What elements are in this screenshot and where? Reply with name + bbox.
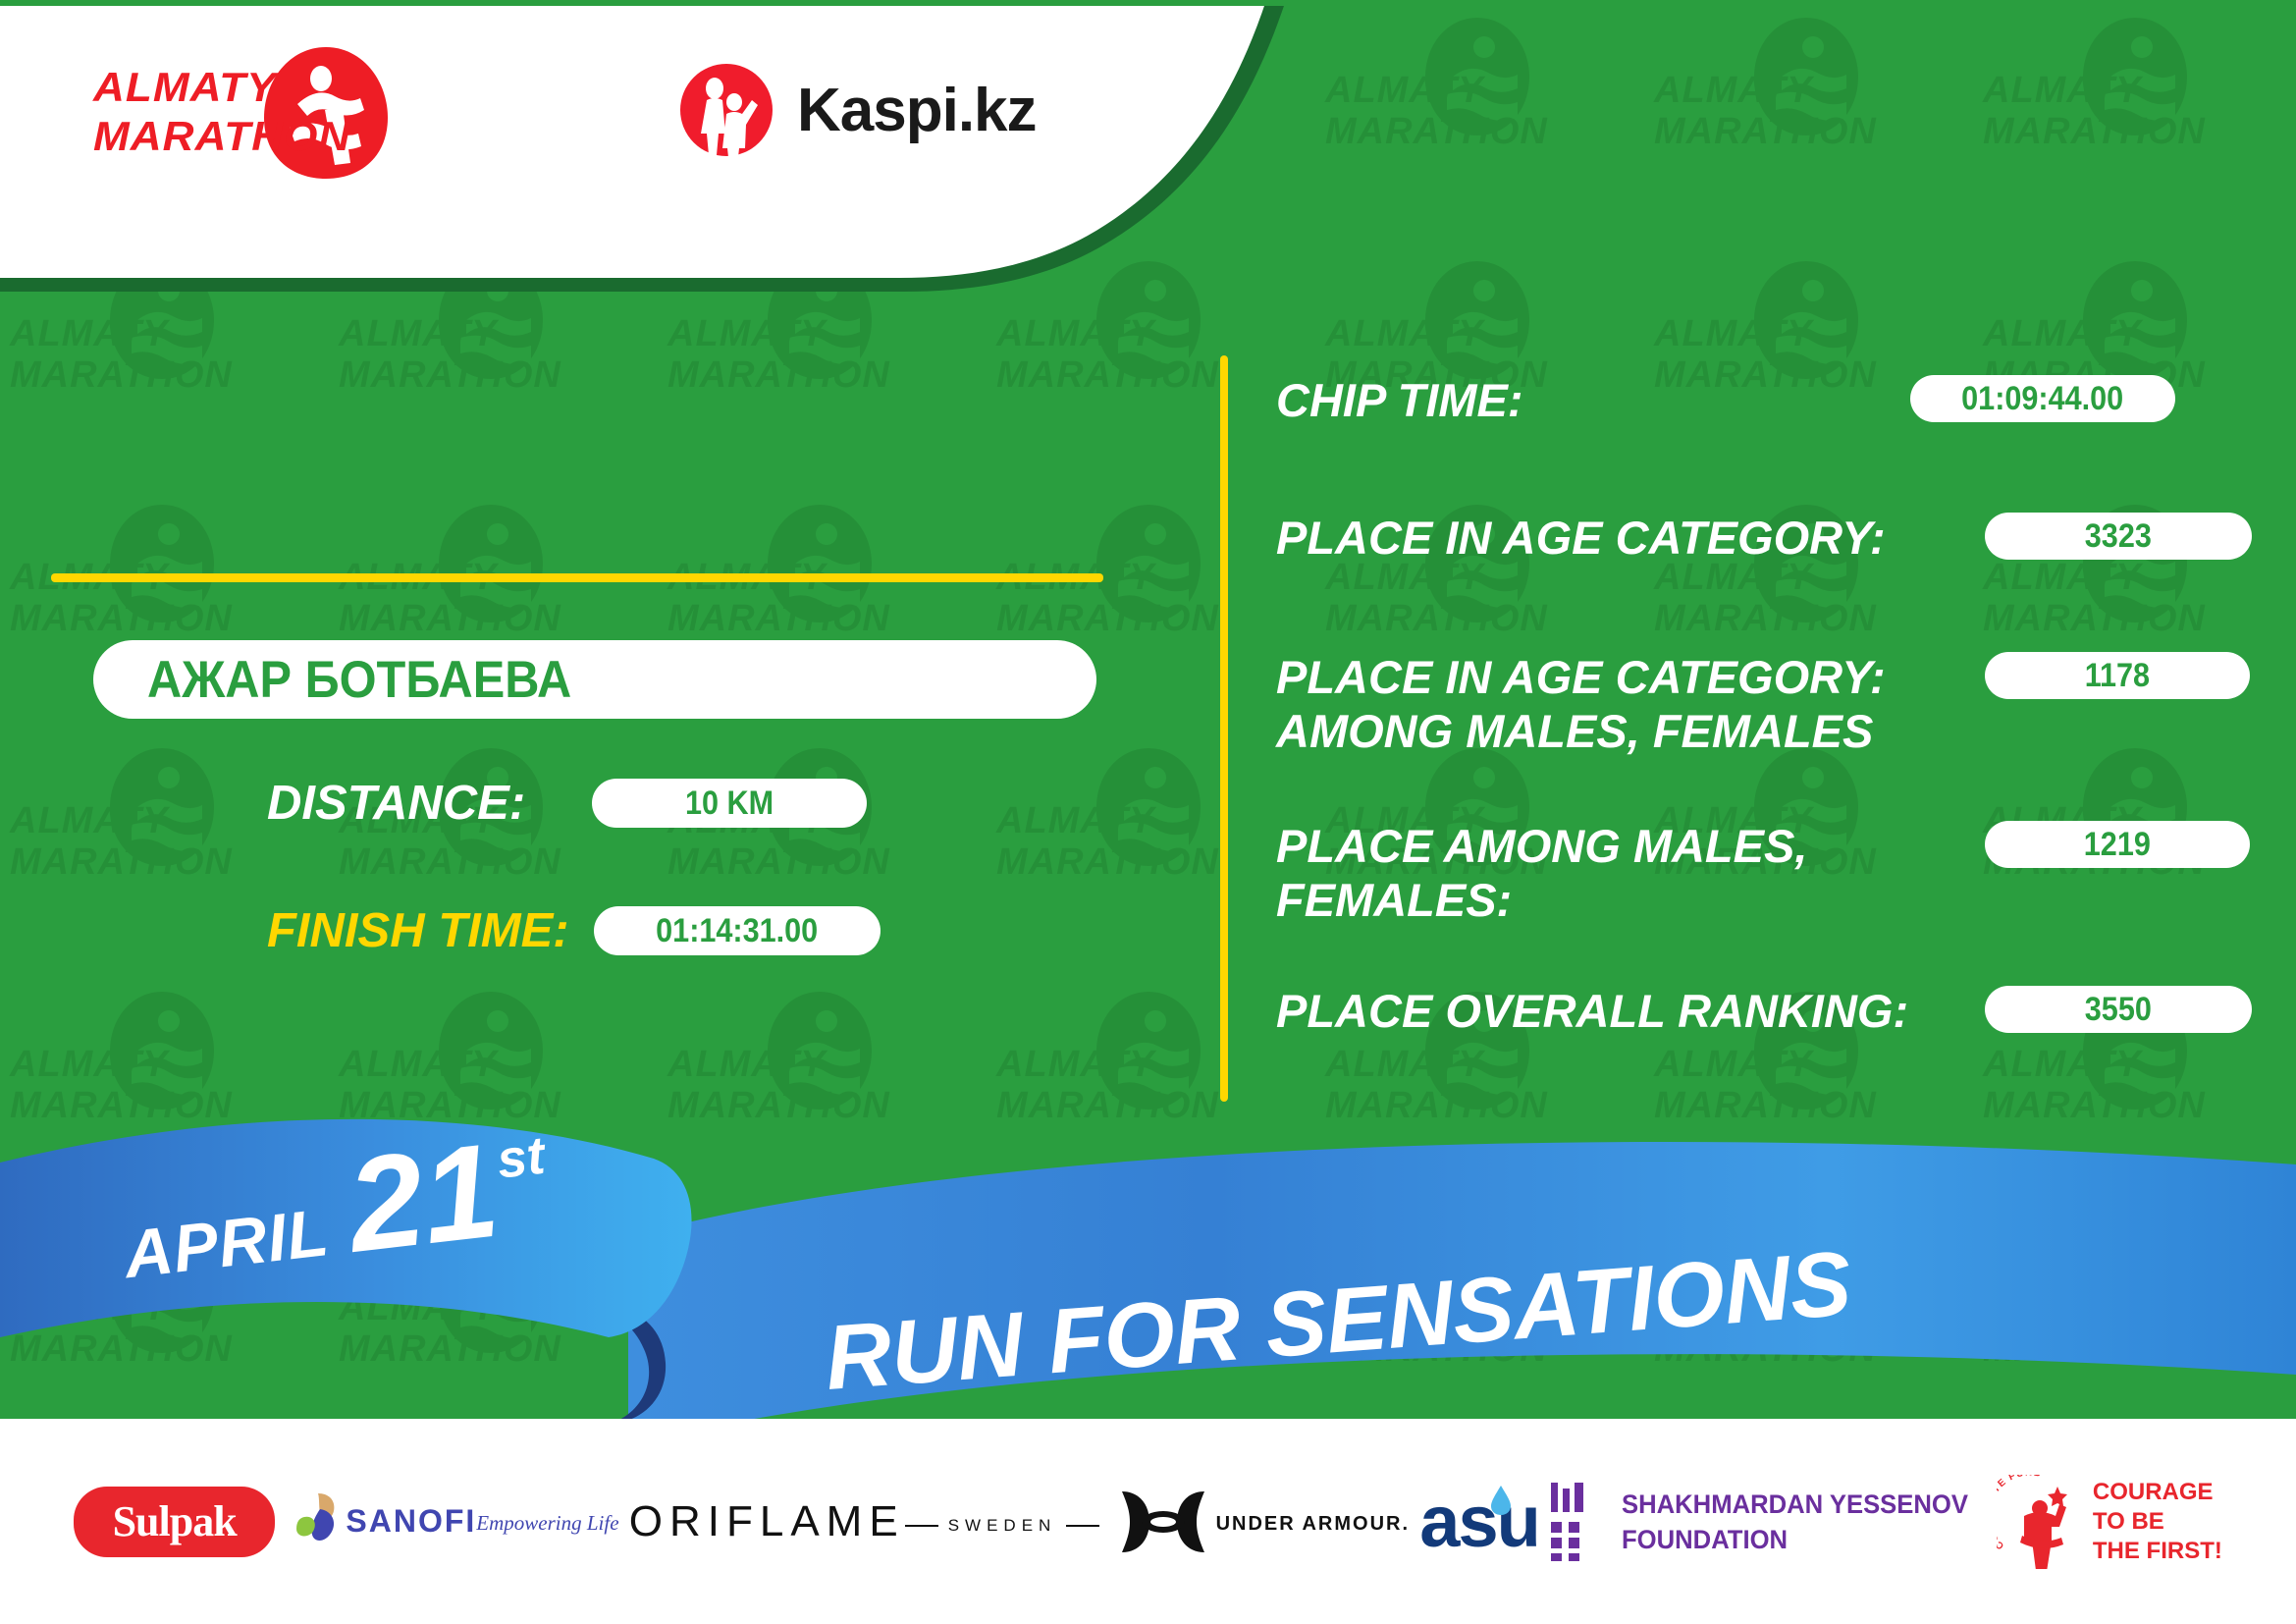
finish-time-value: 01:14:31.00 [656, 912, 818, 950]
sponsor-oriflame: ORIFLAME SWEDEN [629, 1497, 1100, 1546]
stat-row-place-overall-ranking: PLACE OVERALL RANKING: 3550 [1276, 984, 2258, 1038]
place-among-label-line2: FEMALES: [1276, 873, 2258, 927]
stat-row-place-among-males-females: PLACE AMONG MALES, FEMALES: 1219 [1276, 819, 2258, 927]
yessenov-wordmark: SHAKHMARDAN YESSENOV FOUNDATION [1622, 1487, 1968, 1557]
stat-row-chip-time: CHIP TIME: 01:09:44.00 [1276, 373, 2258, 427]
participant-name-field: АЖАР БОТБАЕВА [93, 640, 1096, 719]
stat-row-distance: DISTANCE: 10 KM [267, 776, 867, 831]
oriflame-sub: SWEDEN [905, 1516, 1100, 1536]
chip-time-value-pill: 01:09:44.00 [1910, 375, 2175, 422]
yessenov-line1: SHAKHMARDAN YESSENOV [1622, 1487, 1968, 1522]
asu-drop-icon [1491, 1486, 1511, 1515]
distance-value-pill: 10 KM [592, 779, 867, 828]
stat-row-finish-time: FINISH TIME: 01:14:31.00 [267, 903, 881, 958]
yessenov-icon [1549, 1483, 1604, 1561]
kaspi-wordmark: Kaspi.kz [797, 76, 1037, 145]
under-armour-icon [1110, 1489, 1216, 1554]
sanofi-icon [285, 1489, 346, 1550]
event-day: 21 [344, 1135, 504, 1259]
almaty-line: ALMATY [93, 64, 277, 110]
event-day-suffix: st [494, 1125, 548, 1191]
courage-line3: THE FIRST! [2093, 1537, 2222, 1566]
finish-time-label: FINISH TIME: [267, 903, 569, 958]
title-underline [51, 573, 1103, 582]
almaty-marathon-logo: ALMATY MARATHON [93, 41, 398, 179]
distance-label: DISTANCE: [267, 776, 525, 831]
sponsor-asu: asu [1419, 1480, 1539, 1563]
kaspi-logo: Kaspi.kz [677, 61, 1037, 159]
distance-value: 10 KM [685, 785, 774, 823]
place-age-among-value-pill: 1178 [1985, 652, 2250, 699]
courage-fund-wordmark: COURAGE TO BE THE FIRST! [2093, 1478, 2222, 1566]
yessenov-line2: FOUNDATION [1622, 1522, 1968, 1557]
finish-time-value-pill: 01:14:31.00 [594, 906, 881, 955]
place-age-category-value: 3323 [2085, 517, 2152, 556]
column-divider [1220, 355, 1228, 1102]
oriflame-tagline: SWEDEN [948, 1516, 1057, 1536]
marathon-line: MARATHON [93, 113, 350, 159]
place-among-value-pill: 1219 [1985, 821, 2250, 868]
asu-wordmark: asu [1419, 1480, 1539, 1563]
sponsor-sulpak: Sulpak [74, 1487, 275, 1557]
chip-time-value: 01:09:44.00 [1961, 380, 2123, 418]
courage-line2: TO BE [2093, 1507, 2222, 1537]
sulpak-logo: Sulpak [74, 1487, 275, 1557]
sanofi-wordmark: SANOFI [346, 1503, 476, 1540]
sponsor-under-armour: UNDER ARMOUR. [1110, 1489, 1410, 1554]
place-age-among-label-line2: AMONG MALES, FEMALES [1276, 704, 2258, 758]
place-overall-value-pill: 3550 [1985, 986, 2252, 1033]
sponsor-yessenov-foundation: SHAKHMARDAN YESSENOV FOUNDATION [1549, 1483, 1987, 1561]
oriflame-rule-left [905, 1525, 938, 1527]
courage-line1: COURAGE [2093, 1478, 2222, 1507]
stat-row-place-age-category-among: PLACE IN AGE CATEGORY: AMONG MALES, FEMA… [1276, 650, 2258, 758]
oriflame-rule-right [1066, 1525, 1099, 1527]
place-among-value: 1219 [2084, 826, 2151, 864]
place-overall-value: 3550 [2085, 991, 2152, 1029]
oriflame-wordmark: ORIFLAME [629, 1497, 905, 1546]
stat-row-place-age-category: PLACE IN AGE CATEGORY: 3323 [1276, 511, 2258, 565]
sanofi-tagline: Empowering Life [476, 1511, 618, 1536]
participant-name: АЖАР БОТБАЕВА [147, 650, 571, 710]
sponsor-sanofi: SANOFI Empowering Life [285, 1489, 618, 1554]
almaty-marathon-wordmark: ALMATY MARATHON [93, 63, 350, 161]
certificate-canvas: ALMATY MARATHON [0, 0, 2296, 1624]
sponsor-courage-fund: CORPORATE FUND COURAGE TO BE THE FIRST! [1997, 1475, 2222, 1569]
place-age-category-value-pill: 3323 [1985, 513, 2252, 560]
courage-fund-icon: CORPORATE FUND [1997, 1475, 2081, 1569]
place-age-among-value: 1178 [2085, 657, 2150, 695]
sulpak-wordmark: Sulpak [113, 1496, 237, 1546]
kaspi-people-icon [677, 61, 775, 159]
under-armour-wordmark: UNDER ARMOUR. [1216, 1513, 1410, 1536]
sponsor-bar: Sulpak SANOFI Empowering Life ORIFLAME S… [0, 1419, 2296, 1624]
header-logo-row: ALMATY MARATHON Kaspi.kz [0, 0, 1227, 265]
